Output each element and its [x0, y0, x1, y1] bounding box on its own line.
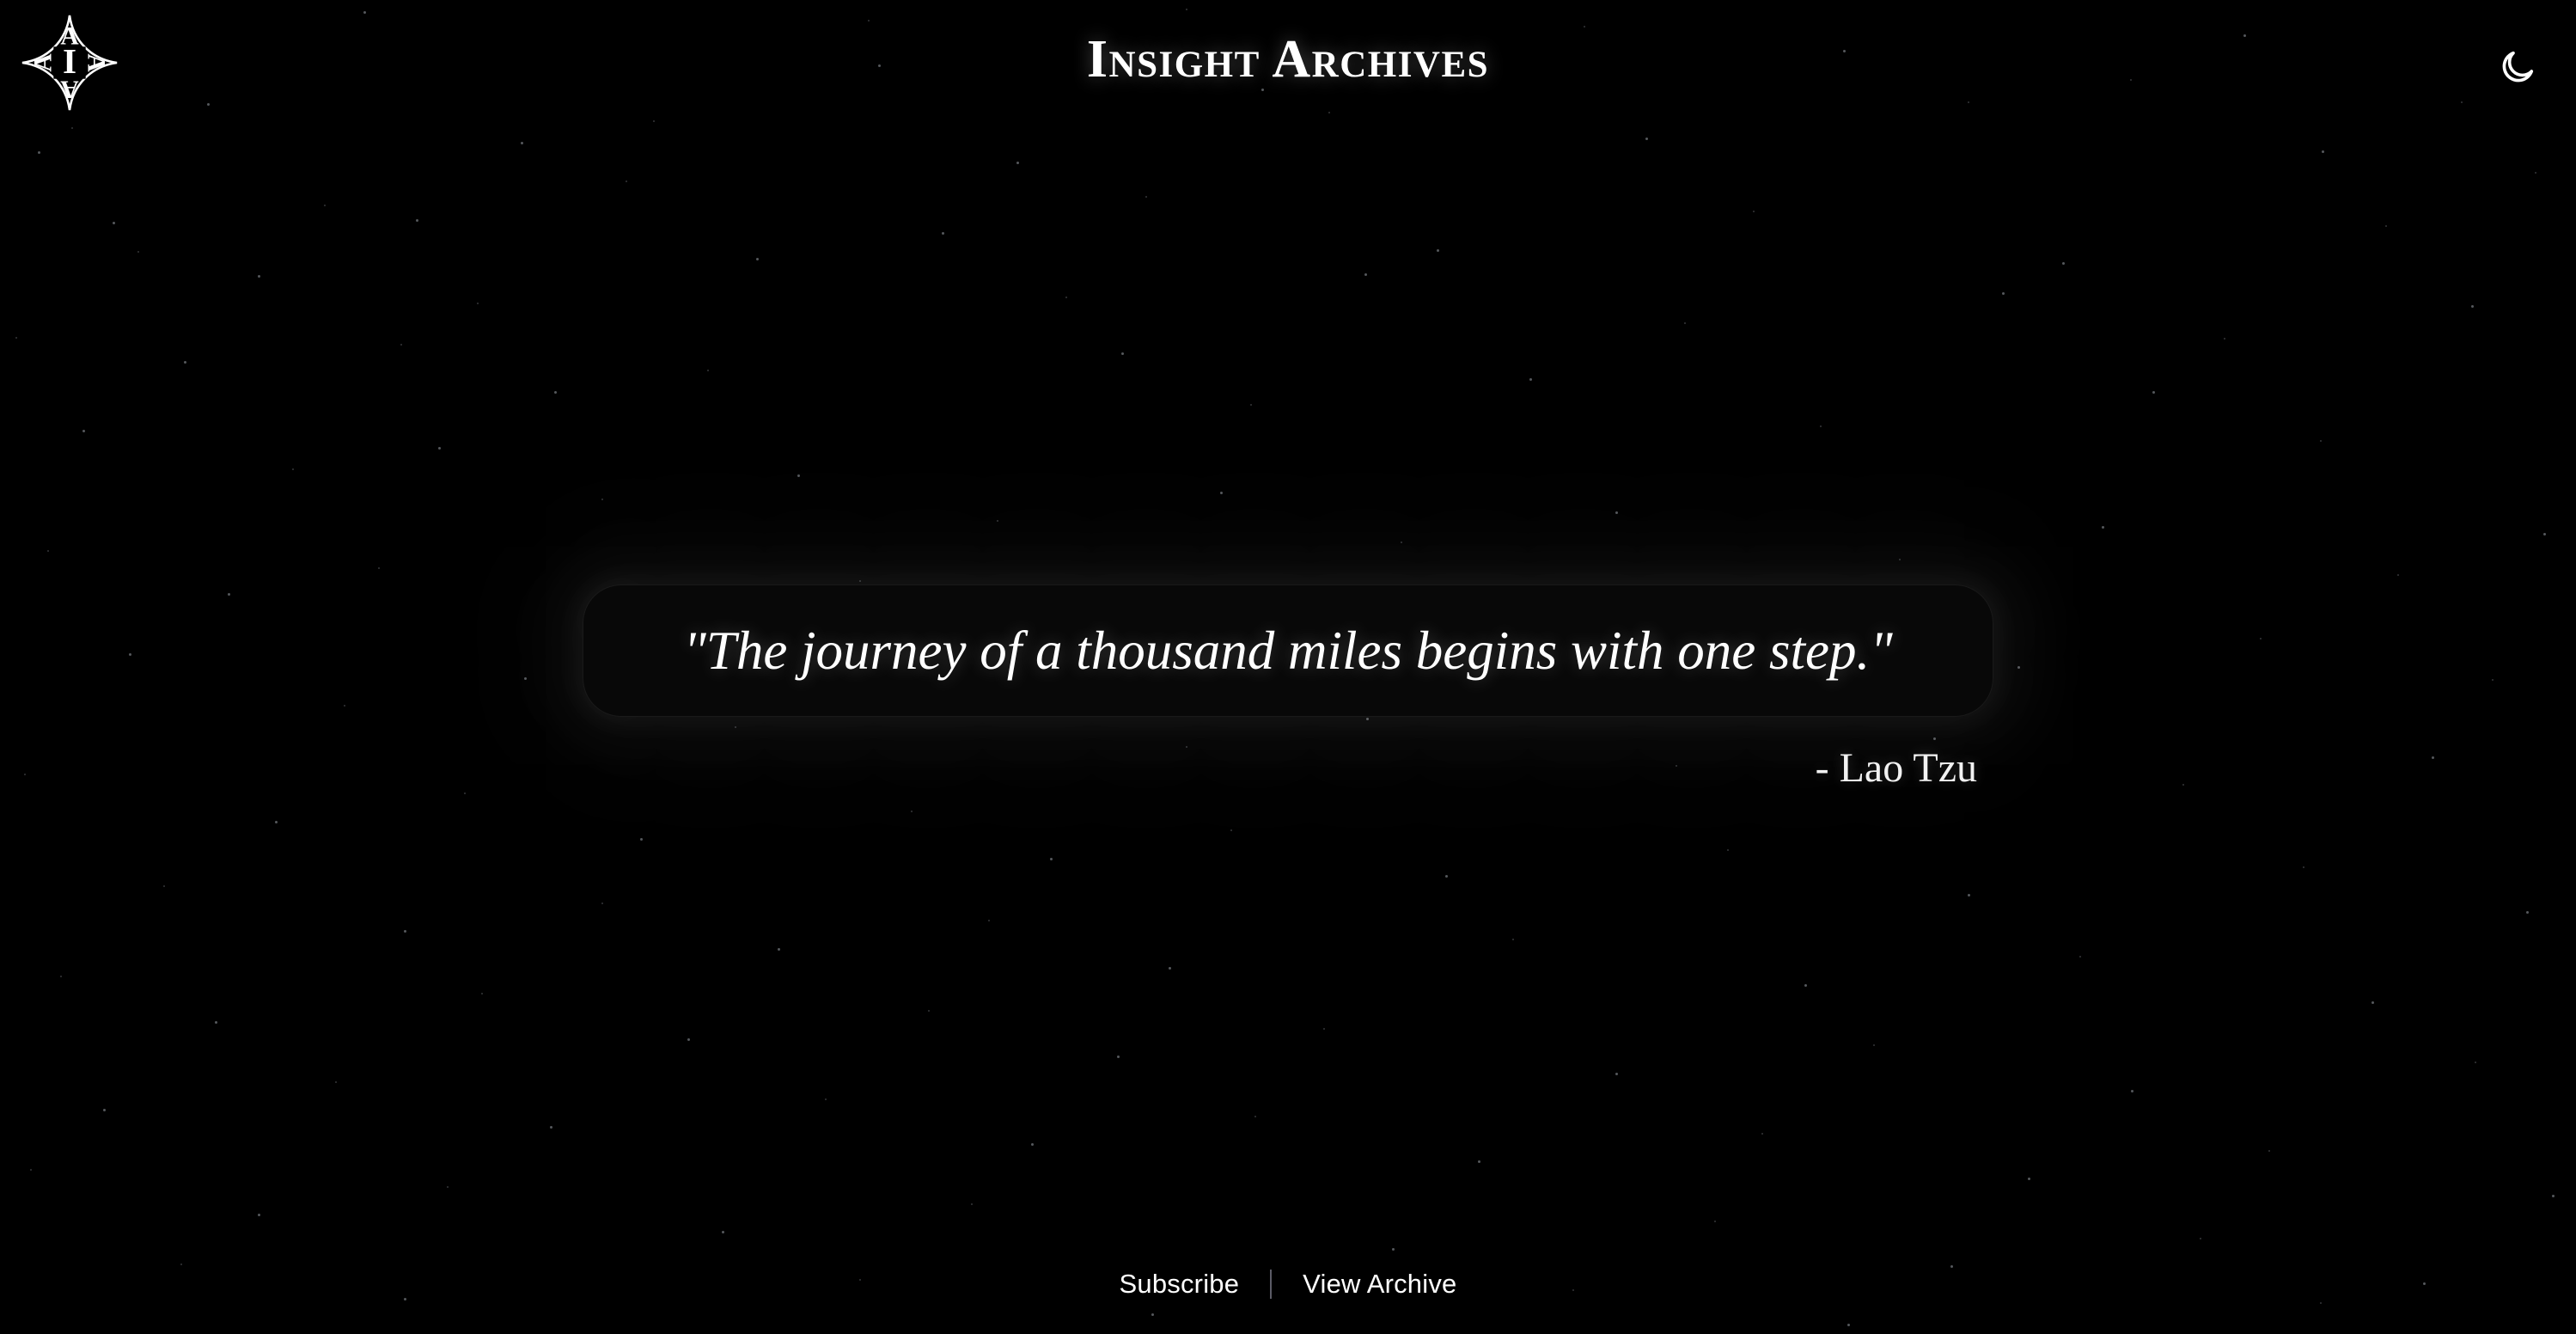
moon-icon	[2498, 47, 2537, 87]
dark-mode-toggle-button[interactable]	[2494, 43, 2542, 91]
page-title: Insight Archives	[0, 33, 2576, 86]
site-header: A A A A I Insight Archives	[0, 0, 2576, 138]
quote-card: "The journey of a thousand miles begins …	[583, 585, 1993, 716]
quote-block: "The journey of a thousand miles begins …	[583, 585, 1993, 793]
footer-divider	[1270, 1270, 1272, 1299]
quote-attribution: - Lao Tzu	[583, 743, 1993, 793]
subscribe-link[interactable]: Subscribe	[1113, 1265, 1247, 1303]
quote-text: "The journey of a thousand miles begins …	[683, 619, 1892, 682]
site-footer: Subscribe View Archive	[0, 1265, 2576, 1303]
view-archive-link[interactable]: View Archive	[1296, 1265, 1463, 1303]
main-content: "The journey of a thousand miles begins …	[0, 0, 2576, 1334]
